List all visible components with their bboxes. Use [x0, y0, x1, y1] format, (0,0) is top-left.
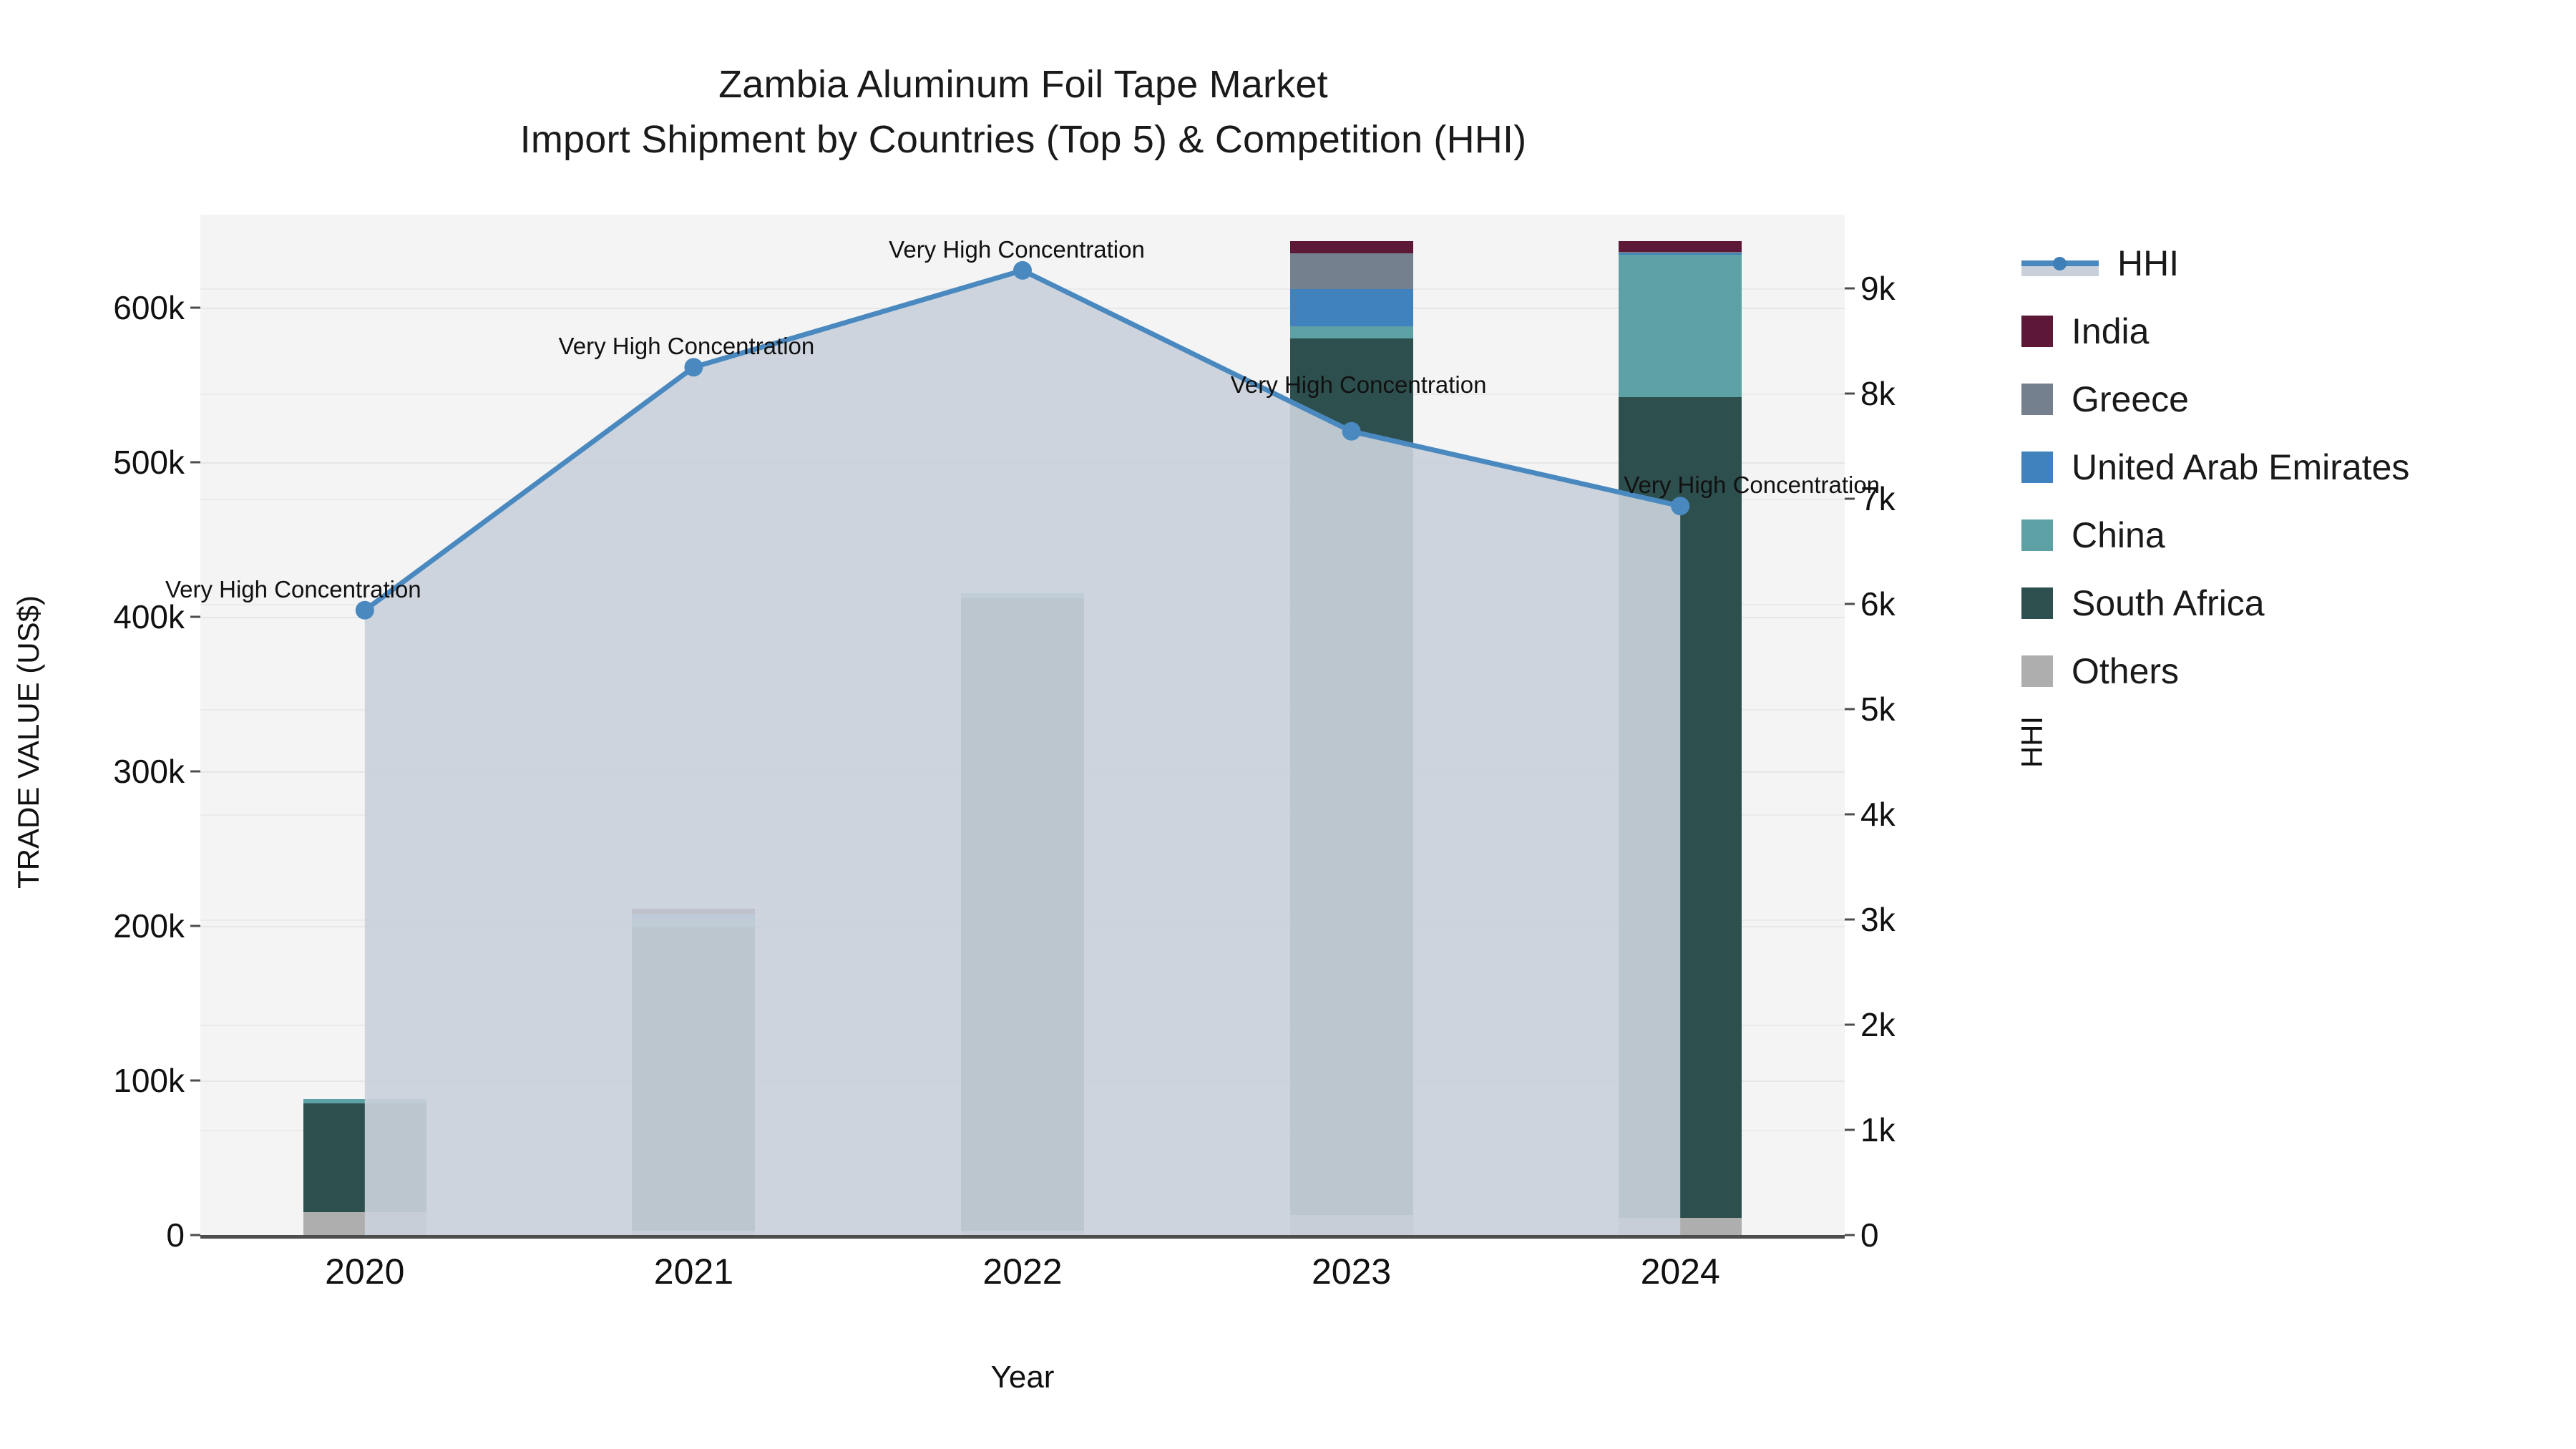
- bar-segment-2020-china[interactable]: [303, 1099, 426, 1103]
- y-tick-left-500k: 500k: [0, 443, 185, 482]
- y-tickmark-right-5k: [1845, 708, 1855, 710]
- bar-segment-2023-china[interactable]: [1290, 326, 1413, 338]
- y-tick-right-3k: 3k: [1860, 900, 2004, 939]
- bar-segment-2022-china[interactable]: [961, 593, 1084, 597]
- x-tick-2023: 2023: [1312, 1251, 1391, 1292]
- bar-segment-2021-south-africa[interactable]: [632, 927, 755, 1230]
- y-tick-right-6k: 6k: [1860, 585, 2004, 623]
- y-tick-right-1k: 1k: [1860, 1111, 2004, 1149]
- bar-segment-2023-india[interactable]: [1290, 241, 1413, 253]
- legend-item-india[interactable]: India: [2021, 297, 2551, 365]
- legend-item-greece[interactable]: Greece: [2021, 365, 2551, 433]
- bar-group-2020[interactable]: [303, 1099, 426, 1235]
- bar-segment-2024-china[interactable]: [1619, 255, 1742, 397]
- bar-group-2021[interactable]: [632, 909, 755, 1235]
- y-tick-left-100k: 100k: [0, 1061, 185, 1100]
- y-tick-right-5k: 5k: [1860, 690, 2004, 728]
- bar-segment-2023-united-arab-emirates[interactable]: [1290, 289, 1413, 326]
- x-axis-spine: [200, 1235, 1845, 1239]
- y-tickmark-right-6k: [1845, 602, 1855, 605]
- y-tick-right-0: 0: [1860, 1216, 2004, 1254]
- legend-swatch-china: [2021, 519, 2053, 551]
- bar-segment-2020-south-africa[interactable]: [303, 1103, 426, 1211]
- gridline-hhi-7k: [200, 499, 1845, 500]
- y-tickmark-left-0: [190, 1234, 200, 1236]
- y-tick-right-8k: 8k: [1860, 374, 2004, 413]
- legend-item-others[interactable]: Others: [2021, 637, 2551, 705]
- bar-group-2024[interactable]: [1619, 241, 1742, 1235]
- x-tick-2022: 2022: [982, 1251, 1062, 1292]
- legend-marker-dot: [2053, 257, 2067, 270]
- legend-swatch-south-africa: [2021, 587, 2053, 619]
- bar-segment-2020-others[interactable]: [303, 1212, 426, 1235]
- y-tick-right-9k: 9k: [1860, 269, 2004, 308]
- chart-title: Zambia Aluminum Foil Tape Market Import …: [200, 57, 1846, 167]
- x-axis-label: Year: [200, 1360, 1845, 1395]
- bar-segment-2024-south-africa[interactable]: [1619, 397, 1742, 1218]
- y-tickmark-right-0: [1845, 1234, 1855, 1236]
- x-tick-2024: 2024: [1641, 1251, 1720, 1292]
- legend-label-others: Others: [2072, 650, 2179, 692]
- y-tickmark-left-600k: [190, 306, 200, 308]
- annotation-2021: Very High Concentration: [559, 333, 815, 360]
- legend-label-united-arab-emirates: United Arab Emirates: [2072, 447, 2409, 488]
- y-tickmark-right-4k: [1845, 813, 1855, 815]
- y-tick-right-2k: 2k: [1860, 1005, 2004, 1044]
- y-tickmark-right-8k: [1845, 392, 1855, 394]
- bar-segment-2024-others[interactable]: [1619, 1218, 1742, 1235]
- legend-line-marker-hhi: [2021, 248, 2099, 279]
- bar-segment-2022-south-africa[interactable]: [961, 598, 1084, 1231]
- legend-swatch-greece: [2021, 384, 2053, 415]
- y-axis-left-label: TRADE VALUE (US$): [11, 492, 46, 992]
- y-tickmark-right-2k: [1845, 1023, 1855, 1025]
- y-tick-left-0: 0: [0, 1216, 185, 1254]
- bar-segment-2023-greece[interactable]: [1290, 253, 1413, 289]
- legend-item-united-arab-emirates[interactable]: United Arab Emirates: [2021, 433, 2551, 501]
- plot-area: Very High ConcentrationVery High Concent…: [200, 215, 1845, 1235]
- gridline-trade-500k: [200, 462, 1845, 464]
- bar-segment-2023-south-africa[interactable]: [1290, 338, 1413, 1215]
- annotation-2024: Very High Concentration: [1624, 472, 1880, 499]
- x-tick-2020: 2020: [325, 1251, 404, 1292]
- x-tick-2021: 2021: [654, 1251, 733, 1292]
- bar-segment-2023-others[interactable]: [1290, 1215, 1413, 1235]
- y-tickmark-right-9k: [1845, 287, 1855, 289]
- legend-label-china: China: [2072, 514, 2165, 556]
- gridline-hhi-9k: [200, 288, 1845, 290]
- bar-segment-2021-china[interactable]: [632, 919, 755, 927]
- chart-figure: Zambia Aluminum Foil Tape Market Import …: [0, 0, 2576, 1449]
- y-tickmark-right-3k: [1845, 918, 1855, 920]
- gridline-hhi-8k: [200, 394, 1845, 395]
- title-line-2: Import Shipment by Countries (Top 5) & C…: [200, 112, 1846, 167]
- y-tickmark-left-500k: [190, 461, 200, 463]
- legend-label-hhi: HHI: [2117, 243, 2179, 284]
- legend-item-south-africa[interactable]: South Africa: [2021, 569, 2551, 637]
- annotation-2020: Very High Concentration: [165, 576, 421, 603]
- y-tickmark-right-1k: [1845, 1128, 1855, 1131]
- bar-group-2022[interactable]: [961, 593, 1084, 1235]
- legend-swatch-united-arab-emirates: [2021, 452, 2053, 483]
- legend-swatch-india: [2021, 316, 2053, 347]
- bar-segment-2021-india[interactable]: [632, 909, 755, 913]
- y-tick-right-7k: 7k: [1860, 479, 2004, 518]
- bar-segment-2024-india[interactable]: [1619, 241, 1742, 252]
- y-tickmark-right-7k: [1845, 497, 1855, 499]
- legend-label-south-africa: South Africa: [2072, 582, 2265, 624]
- y-tickmark-left-400k: [190, 615, 200, 618]
- y-tickmark-left-100k: [190, 1079, 200, 1081]
- chart-legend: HHIIndiaGreeceUnited Arab EmiratesChinaS…: [2021, 229, 2551, 705]
- title-line-1: Zambia Aluminum Foil Tape Market: [200, 57, 1846, 112]
- legend-item-hhi[interactable]: HHI: [2021, 229, 2551, 297]
- annotation-2022: Very High Concentration: [889, 236, 1145, 263]
- legend-label-india: India: [2072, 311, 2149, 352]
- legend-item-china[interactable]: China: [2021, 501, 2551, 569]
- y-tick-left-600k: 600k: [0, 288, 185, 327]
- y-tickmark-left-300k: [190, 770, 200, 772]
- legend-label-greece: Greece: [2072, 379, 2189, 420]
- annotation-2023: Very High Concentration: [1231, 371, 1487, 399]
- y-tickmark-left-200k: [190, 924, 200, 927]
- bar-segment-2021-united-arab-emirates[interactable]: [632, 914, 755, 920]
- y-tick-right-4k: 4k: [1860, 795, 2004, 834]
- legend-swatch-others: [2021, 655, 2053, 687]
- gridline-trade-600k: [200, 308, 1845, 309]
